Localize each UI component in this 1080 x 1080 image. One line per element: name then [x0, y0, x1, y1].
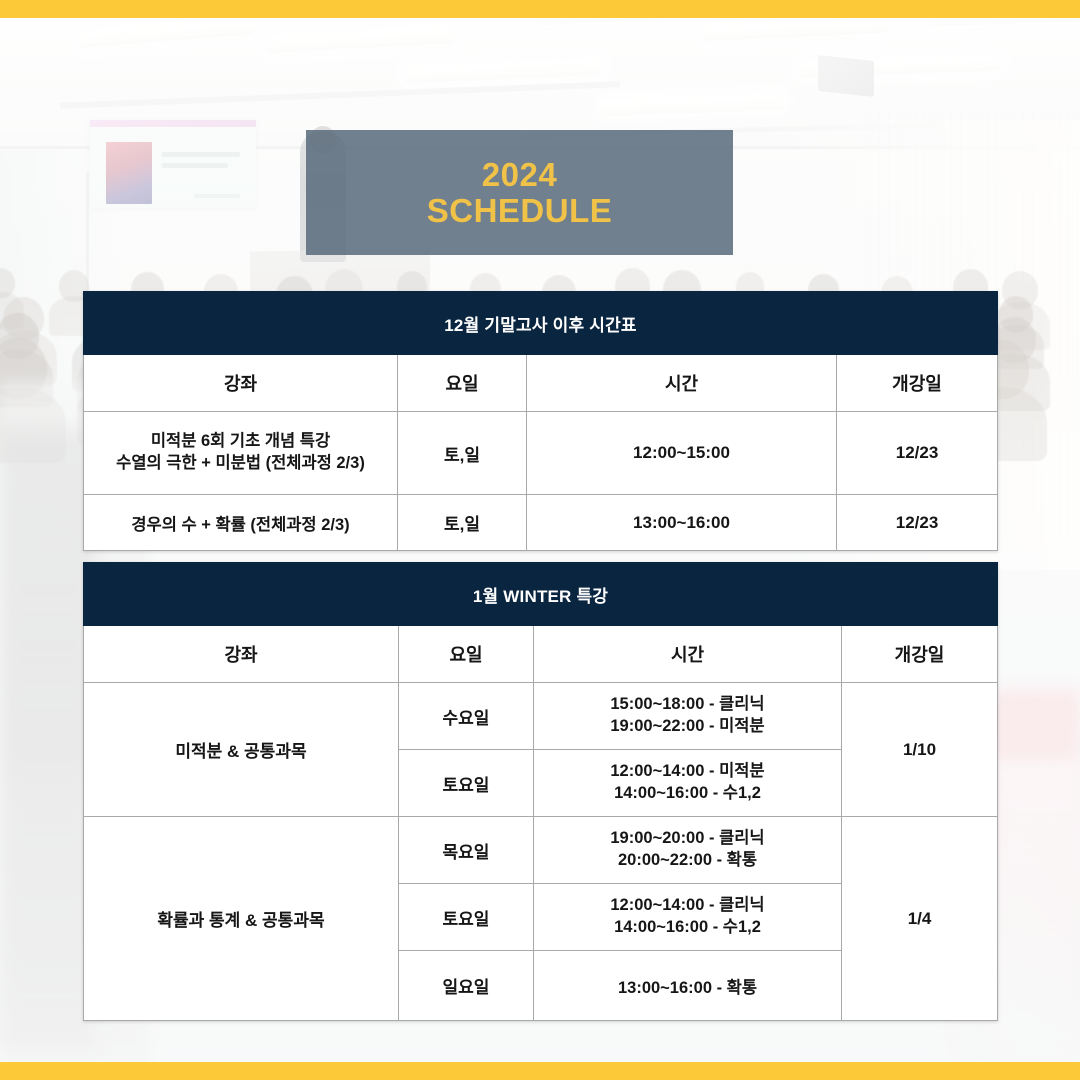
cell-time: 15:00~18:00 - 클리닉 19:00~22:00 - 미적분	[534, 683, 842, 750]
bottom-accent-bar	[0, 1062, 1080, 1080]
cell-start-date: 12/23	[837, 495, 998, 551]
cell-time: 13:00~16:00	[527, 495, 837, 551]
column-header-day: 요일	[399, 626, 534, 683]
cell-start-date: 1/10	[842, 683, 998, 817]
cell-time: 12:00~14:00 - 미적분 14:00~16:00 - 수1,2	[534, 750, 842, 817]
title-year: 2024	[482, 157, 557, 193]
table-title: 1월 WINTER 특강	[84, 563, 998, 626]
column-header-start-date: 개강일	[837, 355, 998, 412]
cell-day: 토,일	[398, 412, 527, 495]
column-header-day: 요일	[398, 355, 527, 412]
cell-start-date: 12/23	[837, 412, 998, 495]
cell-course-group: 확률과 통계 & 공통과목	[84, 817, 399, 1021]
cell-day: 토,일	[398, 495, 527, 551]
column-header-course: 강좌	[84, 626, 399, 683]
table-title: 12월 기말고사 이후 시간표	[84, 292, 998, 355]
title-word: SCHEDULE	[427, 193, 613, 229]
table-title-row: 12월 기말고사 이후 시간표	[84, 292, 998, 355]
cell-day: 수요일	[399, 683, 534, 750]
cell-time: 12:00~15:00	[527, 412, 837, 495]
cell-day: 토요일	[399, 750, 534, 817]
column-header-start-date: 개강일	[842, 626, 998, 683]
cell-start-date: 1/4	[842, 817, 998, 1021]
table-row: 미적분 6회 기초 개념 특강 수열의 극한 + 미분법 (전체과정 2/3) …	[84, 412, 998, 495]
table-header-row: 강좌 요일 시간 개강일	[84, 626, 998, 683]
title-banner: 2024 SCHEDULE	[306, 130, 733, 255]
table-title-row: 1월 WINTER 특강	[84, 563, 998, 626]
column-header-time: 시간	[527, 355, 837, 412]
december-table: 12월 기말고사 이후 시간표 강좌 요일 시간 개강일 미적분 6회 기초 개…	[83, 291, 998, 551]
cell-time: 12:00~14:00 - 클리닉 14:00~16:00 - 수1,2	[534, 884, 842, 951]
cell-course: 경우의 수 + 확률 (전체과정 2/3)	[84, 495, 398, 551]
column-header-course: 강좌	[84, 355, 398, 412]
january-winter-schedule-table: 1월 WINTER 특강 강좌 요일 시간 개강일 미적분 & 공통과목 수요일…	[83, 562, 998, 1021]
cell-day: 토요일	[399, 884, 534, 951]
january-table: 1월 WINTER 특강 강좌 요일 시간 개강일 미적분 & 공통과목 수요일…	[83, 562, 998, 1021]
cell-course-group: 미적분 & 공통과목	[84, 683, 399, 817]
top-accent-bar	[0, 0, 1080, 18]
schedule-poster: 2024 SCHEDULE 12월 기말고사 이후 시간표 강좌 요일 시간 개…	[0, 0, 1080, 1080]
cell-day: 일요일	[399, 951, 534, 1021]
december-schedule-table: 12월 기말고사 이후 시간표 강좌 요일 시간 개강일 미적분 6회 기초 개…	[83, 291, 998, 551]
column-header-time: 시간	[534, 626, 842, 683]
cell-course: 미적분 6회 기초 개념 특강 수열의 극한 + 미분법 (전체과정 2/3)	[84, 412, 398, 495]
cell-time: 13:00~16:00 - 확통	[534, 951, 842, 1021]
table-row: 경우의 수 + 확률 (전체과정 2/3) 토,일 13:00~16:00 12…	[84, 495, 998, 551]
cell-time: 19:00~20:00 - 클리닉 20:00~22:00 - 확통	[534, 817, 842, 884]
table-row: 미적분 & 공통과목 수요일 15:00~18:00 - 클리닉 19:00~2…	[84, 683, 998, 750]
table-header-row: 강좌 요일 시간 개강일	[84, 355, 998, 412]
cell-day: 목요일	[399, 817, 534, 884]
table-row: 확률과 통계 & 공통과목 목요일 19:00~20:00 - 클리닉 20:0…	[84, 817, 998, 884]
